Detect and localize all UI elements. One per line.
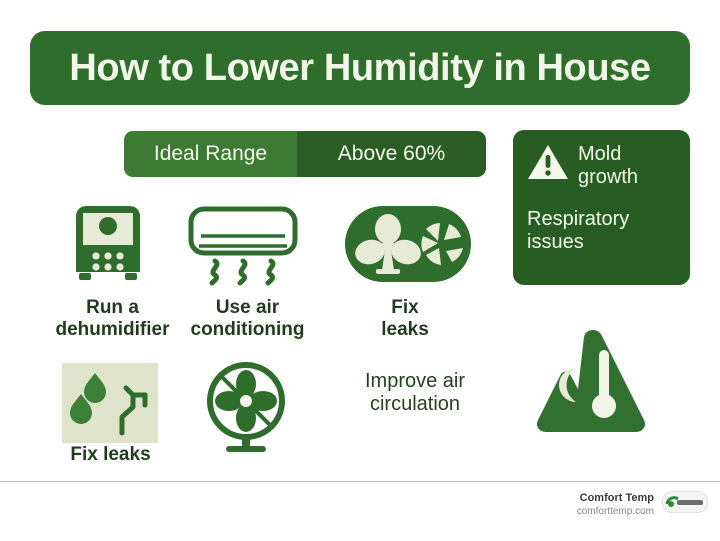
- toggle-segment-ideal-range[interactable]: Ideal Range: [124, 131, 297, 177]
- footer-divider: [0, 481, 720, 482]
- page-title: How to Lower Humidity in House: [69, 47, 650, 90]
- risk-primary: Moldgrowth: [527, 143, 676, 188]
- risk-box: Moldgrowth Respiratoryissues: [513, 130, 690, 285]
- warning-triangle-icon: [527, 143, 569, 186]
- footer-url[interactable]: comforttemp.com: [577, 505, 654, 519]
- table-fan-icon: [200, 360, 292, 461]
- footer-brand: Comfort Temp comforttemp.com: [577, 491, 654, 519]
- dehumidifier-icon: [62, 196, 154, 293]
- footer: Comfort Temp comforttemp.com: [577, 491, 708, 519]
- tip-label-fix-leaks-bottom: Fix leaks: [28, 444, 193, 466]
- comfort-temp-logo: [662, 491, 708, 513]
- risk-primary-label: Moldgrowth: [578, 143, 638, 188]
- page-title-bar: How to Lower Humidity in House: [30, 31, 690, 105]
- footer-brand-name: Comfort Temp: [577, 491, 654, 505]
- infographic-canvas: How to Lower Humidity in House Ideal Ran…: [0, 0, 720, 541]
- leak-droplets-icon: [62, 363, 158, 448]
- fan-blades-pill-icon: [344, 205, 472, 288]
- tip-label-improve-air-circulation: Improve aircirculation: [330, 370, 500, 416]
- humidity-range-toggle[interactable]: Ideal Range Above 60%: [124, 131, 486, 177]
- tip-label-air-conditioning: Use airconditioning: [170, 297, 325, 341]
- risk-secondary-label: Respiratoryissues: [527, 208, 676, 253]
- toggle-segment-above-60[interactable]: Above 60%: [297, 131, 486, 177]
- mountain-thermometer-icon: [533, 326, 649, 439]
- tip-label-fix-leaks-top: Fixleaks: [355, 297, 455, 341]
- air-conditioner-icon: [185, 203, 301, 294]
